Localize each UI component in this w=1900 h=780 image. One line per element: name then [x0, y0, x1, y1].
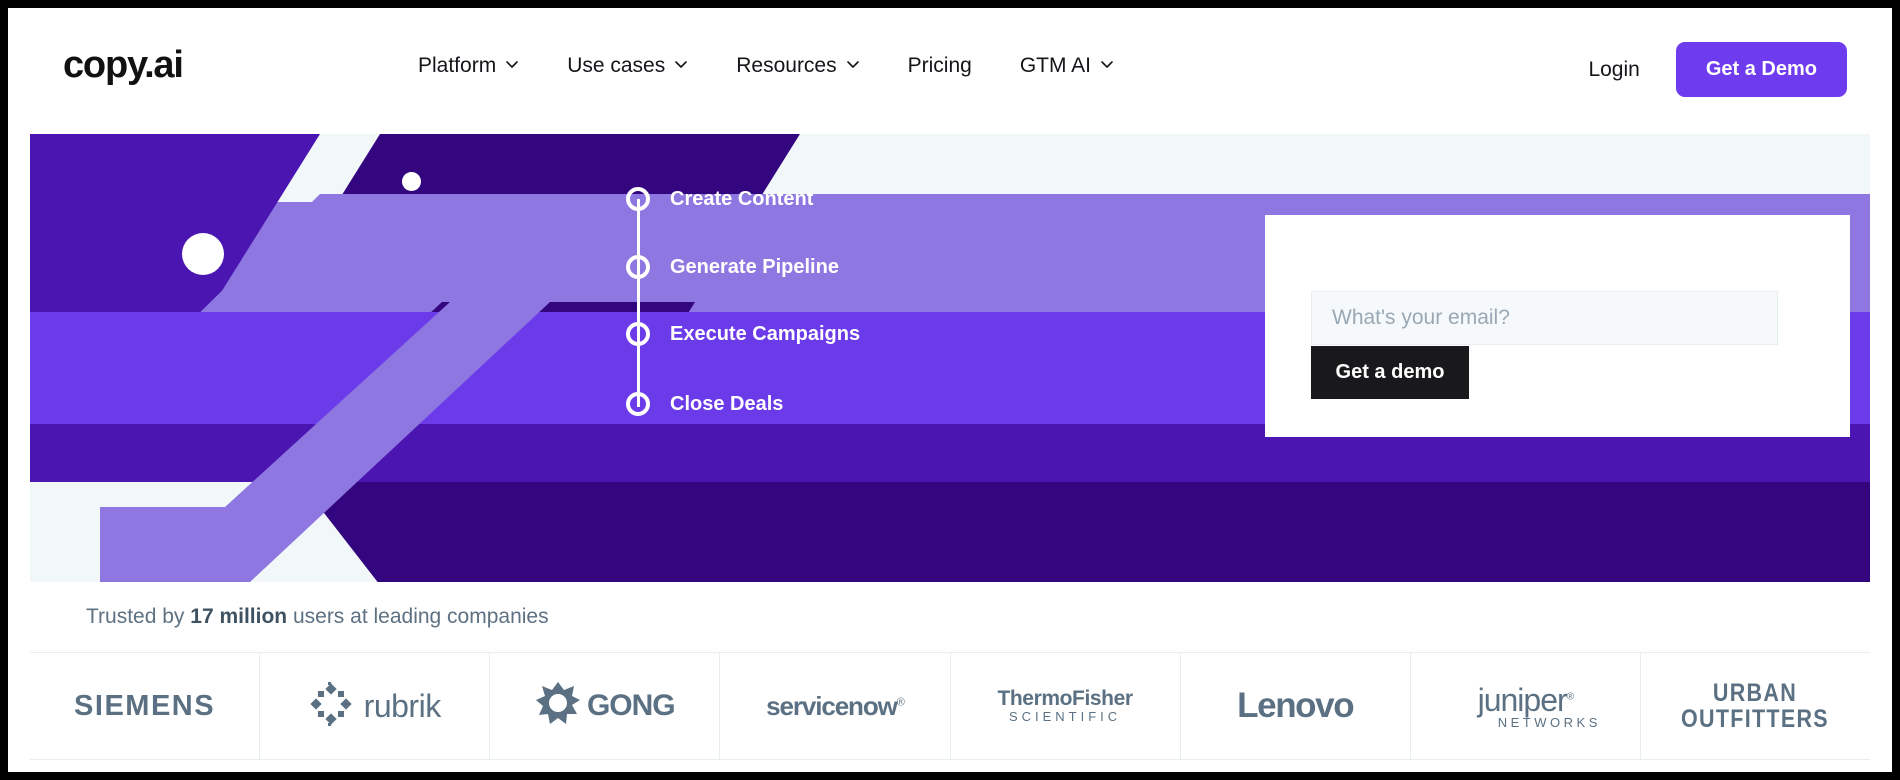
- hero-dot-small: [402, 172, 421, 191]
- step-marker-icon: [626, 392, 650, 416]
- logo-urban-text: URBAN: [1682, 680, 1830, 706]
- step-label: Execute Campaigns: [670, 323, 860, 346]
- site-header: copy.ai Platform Use cases Resources Pri…: [8, 8, 1892, 120]
- step-label: Generate Pipeline: [670, 256, 839, 279]
- step-execute-campaigns[interactable]: Execute Campaigns: [626, 322, 860, 346]
- header-actions: Login Get a Demo: [1588, 42, 1847, 97]
- chevron-down-icon: [1100, 57, 1114, 71]
- logo-juniper: juniper® NETWORKS: [1411, 653, 1641, 759]
- demo-form-card: Get a demo: [1265, 215, 1850, 437]
- step-label: Close Deals: [670, 393, 783, 416]
- nav-item-use-cases[interactable]: Use cases: [567, 54, 688, 78]
- form-get-a-demo-button[interactable]: Get a demo: [1311, 346, 1469, 399]
- brand-logo[interactable]: copy.ai: [63, 44, 183, 87]
- main-navigation: Platform Use cases Resources Pricing GTM…: [418, 54, 1114, 78]
- get-a-demo-button[interactable]: Get a Demo: [1676, 42, 1847, 97]
- logo-siemens: SIEMENS: [30, 653, 260, 759]
- page-frame: copy.ai Platform Use cases Resources Pri…: [8, 8, 1892, 772]
- logo-rubrik-text: rubrik: [364, 688, 441, 725]
- step-generate-pipeline[interactable]: Generate Pipeline: [626, 255, 839, 279]
- rubrik-diamond-icon: [309, 682, 353, 731]
- login-link[interactable]: Login: [1588, 58, 1639, 82]
- chevron-down-icon: [846, 57, 860, 71]
- customer-logo-strip: SIEMENS: [30, 652, 1870, 760]
- step-marker-icon: [626, 322, 650, 346]
- logo-lenovo-text: Lenovo: [1237, 686, 1353, 726]
- logo-urban-outfitters: URBAN OUTFITTERS: [1641, 653, 1870, 759]
- logo-servicenow: servicenow®: [720, 653, 950, 759]
- logo-thermo-fisher: ThermoFisher SCIENTIFIC: [951, 653, 1181, 759]
- registered-mark: ®: [1567, 691, 1573, 702]
- nav-item-resources[interactable]: Resources: [736, 54, 859, 78]
- logo-servicenow-text: servicenow: [766, 691, 897, 721]
- trusted-prefix: Trusted by: [86, 605, 190, 628]
- trusted-bar: Trusted by 17 million users at leading c…: [8, 582, 1892, 652]
- step-label: Create Content: [670, 188, 813, 211]
- logo-siemens-text: SIEMENS: [74, 690, 215, 723]
- step-create-content[interactable]: Create Content: [626, 187, 813, 211]
- nav-item-platform[interactable]: Platform: [418, 54, 519, 78]
- logo-thermo-fisher-text: ThermoFisher: [997, 688, 1132, 710]
- logo-lenovo: Lenovo: [1181, 653, 1411, 759]
- hero-graphic: Create Content Generate Pipeline Execute…: [30, 134, 1870, 582]
- step-marker-icon: [626, 187, 650, 211]
- logo-gong-text: GONG: [587, 689, 675, 723]
- trusted-count: 17 million: [190, 605, 287, 628]
- registered-mark: ®: [897, 696, 904, 708]
- nav-label: Resources: [736, 54, 836, 78]
- logo-gong: GONG: [490, 653, 720, 759]
- nav-label: Platform: [418, 54, 496, 78]
- logo-thermo-fisher-subtext: SCIENTIFIC: [997, 710, 1132, 724]
- email-input[interactable]: [1311, 291, 1778, 345]
- nav-label: Pricing: [908, 54, 972, 78]
- logo-juniper-subtext: NETWORKS: [1498, 716, 1601, 729]
- step-marker-icon: [626, 255, 650, 279]
- nav-label: GTM AI: [1020, 54, 1091, 78]
- trusted-suffix: users at leading companies: [287, 605, 549, 628]
- hero-steps: Create Content Generate Pipeline Execute…: [626, 158, 1326, 468]
- gong-starburst-icon: [535, 681, 581, 732]
- trusted-text: Trusted by 17 million users at leading c…: [86, 605, 549, 629]
- chevron-down-icon: [674, 57, 688, 71]
- nav-item-gtm-ai[interactable]: GTM AI: [1020, 54, 1114, 78]
- logo-outfitters-text: OUTFITTERS: [1682, 706, 1830, 732]
- step-close-deals[interactable]: Close Deals: [626, 392, 783, 416]
- step-connector-line: [637, 199, 640, 407]
- logo-juniper-text: juniper: [1478, 682, 1567, 718]
- nav-item-pricing[interactable]: Pricing: [908, 54, 972, 78]
- hero-section: Create Content Generate Pipeline Execute…: [8, 120, 1892, 582]
- chevron-down-icon: [505, 57, 519, 71]
- hero-dot-large: [182, 233, 224, 275]
- nav-label: Use cases: [567, 54, 665, 78]
- logo-rubrik: rubrik: [260, 653, 490, 759]
